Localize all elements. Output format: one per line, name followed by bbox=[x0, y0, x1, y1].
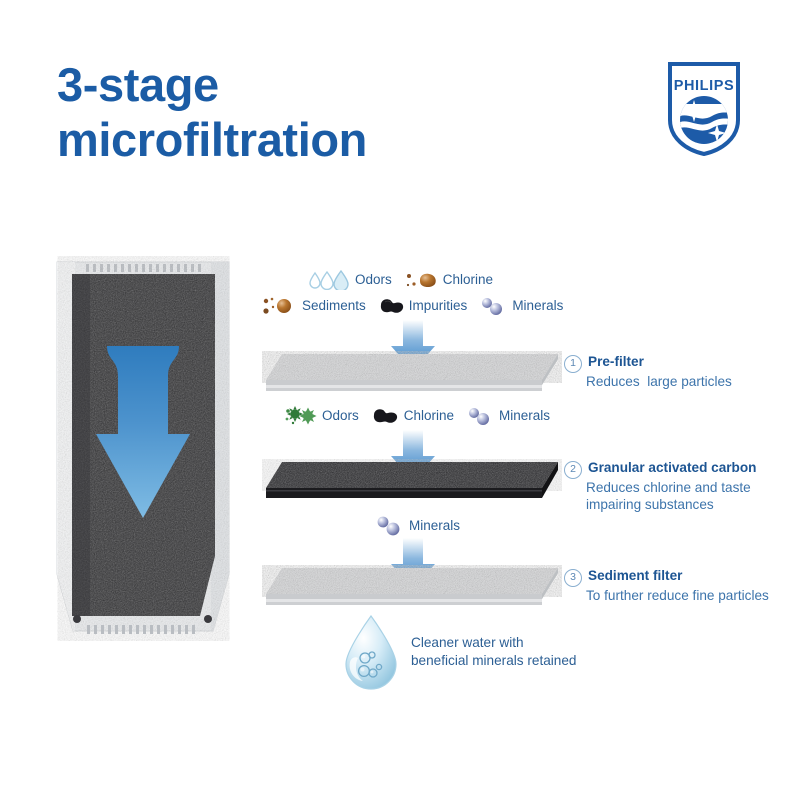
result-block: Cleaner water with beneficial minerals r… bbox=[340, 614, 576, 690]
title-line-2: microfiltration bbox=[57, 113, 617, 168]
impurity-blob-icon bbox=[379, 296, 405, 316]
tag-label: Minerals bbox=[512, 299, 563, 313]
sediment-particles-icon bbox=[262, 295, 298, 317]
tag-label: Odors bbox=[355, 273, 392, 287]
water-droplets-icon bbox=[307, 270, 351, 290]
stage-desc-line-2: impairing substances bbox=[586, 496, 756, 513]
stage-title: Granular activated carbon bbox=[588, 460, 756, 477]
result-text: Cleaner water with beneficial minerals r… bbox=[411, 634, 576, 670]
tag-minerals-3: Minerals bbox=[375, 515, 460, 537]
sediment-slab bbox=[262, 564, 562, 610]
tag-minerals-1: Minerals bbox=[480, 296, 563, 316]
filtration-stages-diagram: Odors Chlorine bbox=[262, 262, 800, 692]
stage-number-badge: 2 bbox=[564, 461, 582, 479]
philips-shield-logo: PHILIPS bbox=[668, 62, 740, 156]
stage-number-badge: 3 bbox=[564, 569, 582, 587]
tag-label: Odors bbox=[322, 409, 359, 423]
chlorine-particles-icon bbox=[405, 270, 439, 290]
water-filter-cartridge bbox=[50, 256, 236, 641]
stage-1-text: 1 Pre-filter Reduces large particles bbox=[564, 354, 732, 390]
chlorine-blob-icon bbox=[372, 406, 400, 426]
mineral-spheres-icon bbox=[467, 406, 495, 426]
mineral-spheres-icon bbox=[480, 296, 508, 316]
odor-microbe-icon bbox=[284, 405, 318, 427]
tag-sediments: Sediments bbox=[262, 295, 366, 317]
contaminants-above-carbon: Odors Chlorine Minerals bbox=[284, 405, 550, 427]
tag-impurities: Impurities bbox=[379, 296, 468, 316]
stage-desc-line-1: Reduces large particles bbox=[586, 373, 732, 390]
stage-title: Sediment filter bbox=[588, 568, 682, 585]
tag-label: Minerals bbox=[499, 409, 550, 423]
tag-label: Sediments bbox=[302, 299, 366, 313]
stage-2-text: 2 Granular activated carbon Reduces chlo… bbox=[564, 460, 756, 514]
water-drop-with-minerals-icon bbox=[340, 614, 402, 690]
stage-number-badge: 1 bbox=[564, 355, 582, 373]
tag-minerals-2: Minerals bbox=[467, 406, 550, 426]
tag-chlorine-1: Chlorine bbox=[405, 270, 493, 290]
philips-wordmark: PHILIPS bbox=[674, 78, 735, 94]
tag-odors-1: Odors bbox=[307, 270, 392, 290]
prefilter-slab bbox=[262, 350, 562, 396]
tag-label: Chlorine bbox=[443, 273, 493, 287]
tag-odors-2: Odors bbox=[284, 405, 359, 427]
stage-3-text: 3 Sediment filter To further reduce fine… bbox=[564, 568, 769, 604]
contaminants-above-prefilter-line2: Sediments Impurities Min bbox=[262, 295, 563, 317]
page-title: 3-stage microfiltration bbox=[57, 58, 617, 168]
tag-label: Chlorine bbox=[404, 409, 454, 423]
contaminants-above-prefilter: Odors Chlorine bbox=[307, 270, 493, 290]
tag-label: Impurities bbox=[409, 299, 468, 313]
stage-desc-line-1: Reduces chlorine and taste bbox=[586, 479, 756, 496]
stage-desc-line-1: To further reduce fine particles bbox=[586, 587, 769, 604]
title-line-1: 3-stage bbox=[57, 58, 617, 113]
tag-chlorine-2: Chlorine bbox=[372, 406, 454, 426]
infographic-canvas: 3-stage microfiltration PHILIPS bbox=[0, 0, 800, 800]
result-line-2: beneficial minerals retained bbox=[411, 652, 576, 670]
contaminants-above-sediment-filter: Minerals bbox=[375, 515, 460, 537]
stage-title: Pre-filter bbox=[588, 354, 644, 371]
mineral-spheres-icon bbox=[375, 515, 405, 537]
tag-label: Minerals bbox=[409, 519, 460, 533]
carbon-slab bbox=[262, 458, 562, 504]
result-line-1: Cleaner water with bbox=[411, 634, 576, 652]
